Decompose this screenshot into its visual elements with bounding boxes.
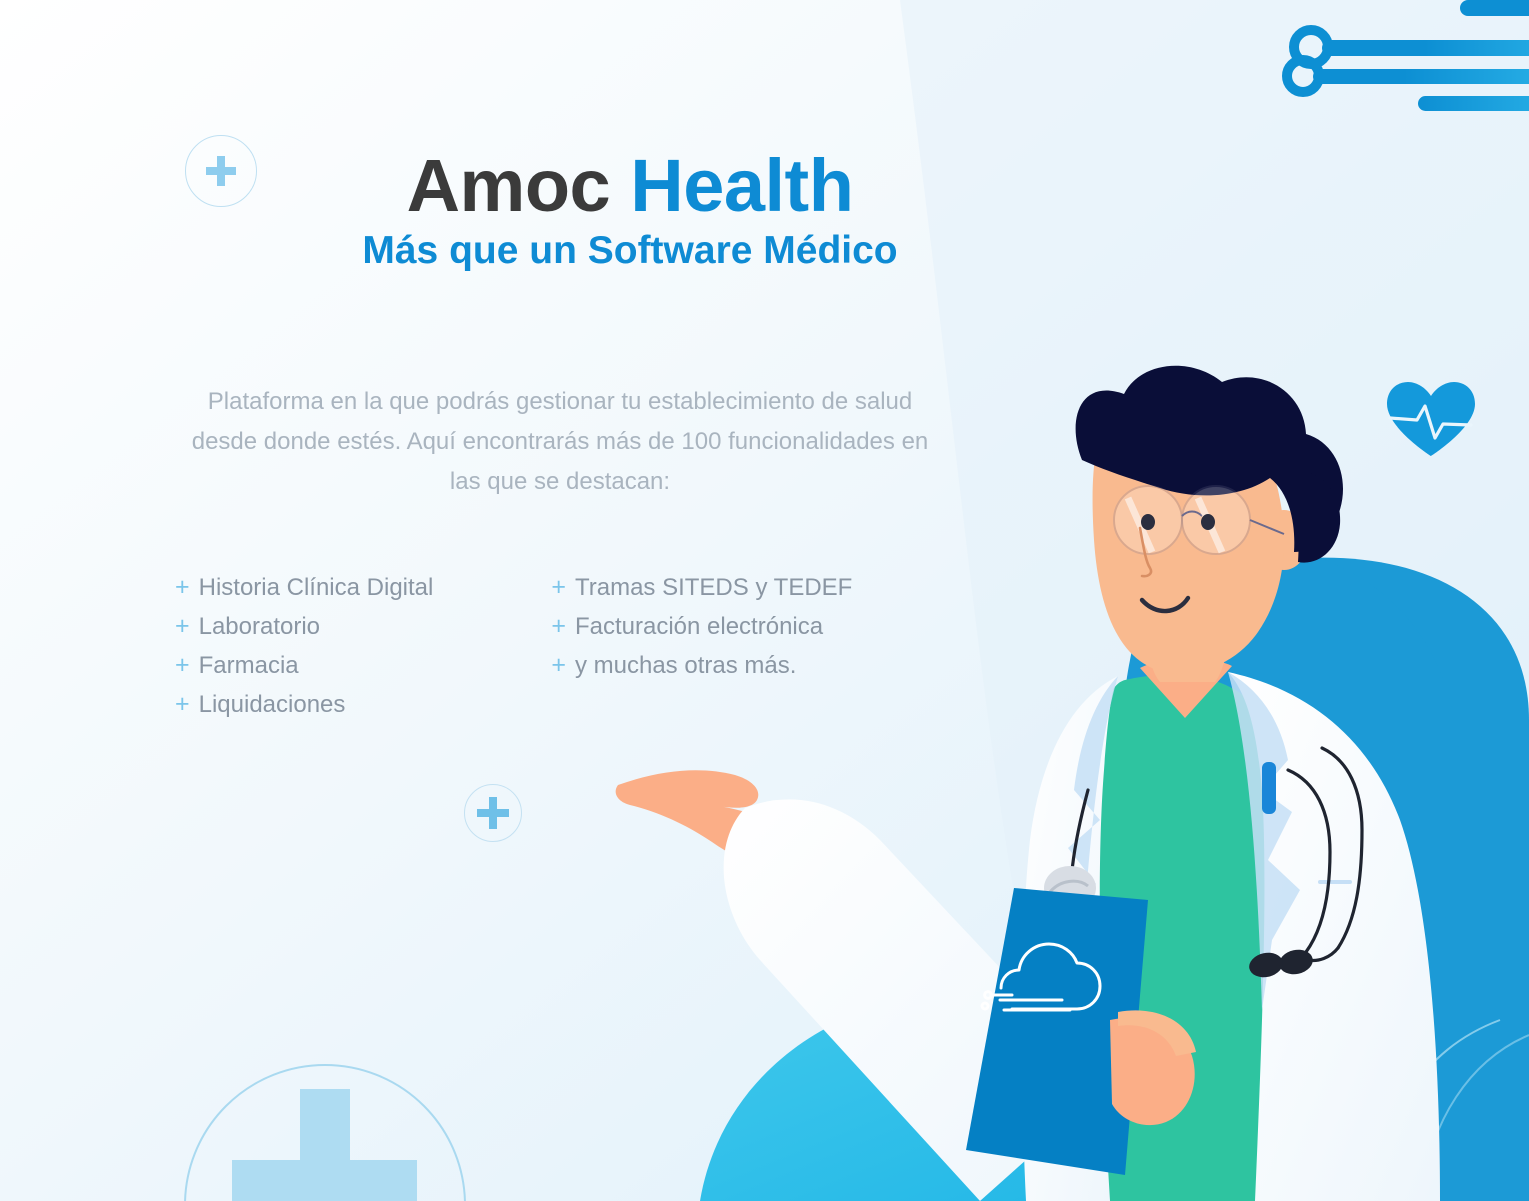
page-title: Amoc Health xyxy=(290,146,970,226)
title-plus-badge-wrapper xyxy=(185,132,257,207)
plus-circle-icon xyxy=(464,784,522,842)
plus-bullet-icon: + xyxy=(551,646,566,684)
pen xyxy=(1262,762,1276,814)
feature-label: Laboratorio xyxy=(199,608,320,646)
plus-badge-icon xyxy=(185,135,257,207)
feature-label: Liquidaciones xyxy=(199,686,346,724)
plus-glyph xyxy=(206,156,236,186)
brand-tagline: Más que un Software Médico xyxy=(290,228,970,274)
plus-bullet-icon: + xyxy=(175,568,190,606)
list-item: + y muchas otras más. xyxy=(551,646,852,685)
list-item: + Laboratorio xyxy=(175,607,433,646)
headline-block: Amoc Health Más que un Software Médico xyxy=(290,146,970,274)
plus-glyph xyxy=(477,797,509,829)
eye-left xyxy=(1141,514,1155,530)
hero-banner: Amoc Health Más que un Software Médico P… xyxy=(0,0,1529,1201)
plus-bullet-icon: + xyxy=(175,685,190,723)
feature-label: Farmacia xyxy=(199,647,299,685)
list-item: + Facturación electrónica xyxy=(551,607,852,646)
list-item: + Liquidaciones xyxy=(175,685,433,724)
feature-label: Facturación electrónica xyxy=(575,608,823,646)
plus-bullet-icon: + xyxy=(175,607,190,645)
feature-label: Historia Clínica Digital xyxy=(199,569,434,607)
brand-name-accent: Health xyxy=(630,144,853,227)
feature-label: Tramas SITEDS y TEDEF xyxy=(575,569,852,607)
feature-column-right: + Tramas SITEDS y TEDEF + Facturación el… xyxy=(551,568,852,724)
plus-bullet-icon: + xyxy=(551,607,566,645)
list-item: + Farmacia xyxy=(175,646,433,685)
feature-label: y muchas otras más. xyxy=(575,647,796,685)
plus-bullet-icon: + xyxy=(551,568,566,606)
feature-column-left: + Historia Clínica Digital + Laboratorio… xyxy=(175,568,433,724)
intro-paragraph: Plataforma en la que podrás gestionar tu… xyxy=(175,382,945,502)
feature-lists: + Historia Clínica Digital + Laboratorio… xyxy=(175,568,975,724)
brand-name-primary: Amoc xyxy=(407,144,631,227)
pocket-line xyxy=(1318,880,1352,884)
list-item: + Tramas SITEDS y TEDEF xyxy=(551,568,852,607)
plus-bullet-icon: + xyxy=(175,646,190,684)
list-item: + Historia Clínica Digital xyxy=(175,568,433,607)
eye-right xyxy=(1201,514,1215,530)
